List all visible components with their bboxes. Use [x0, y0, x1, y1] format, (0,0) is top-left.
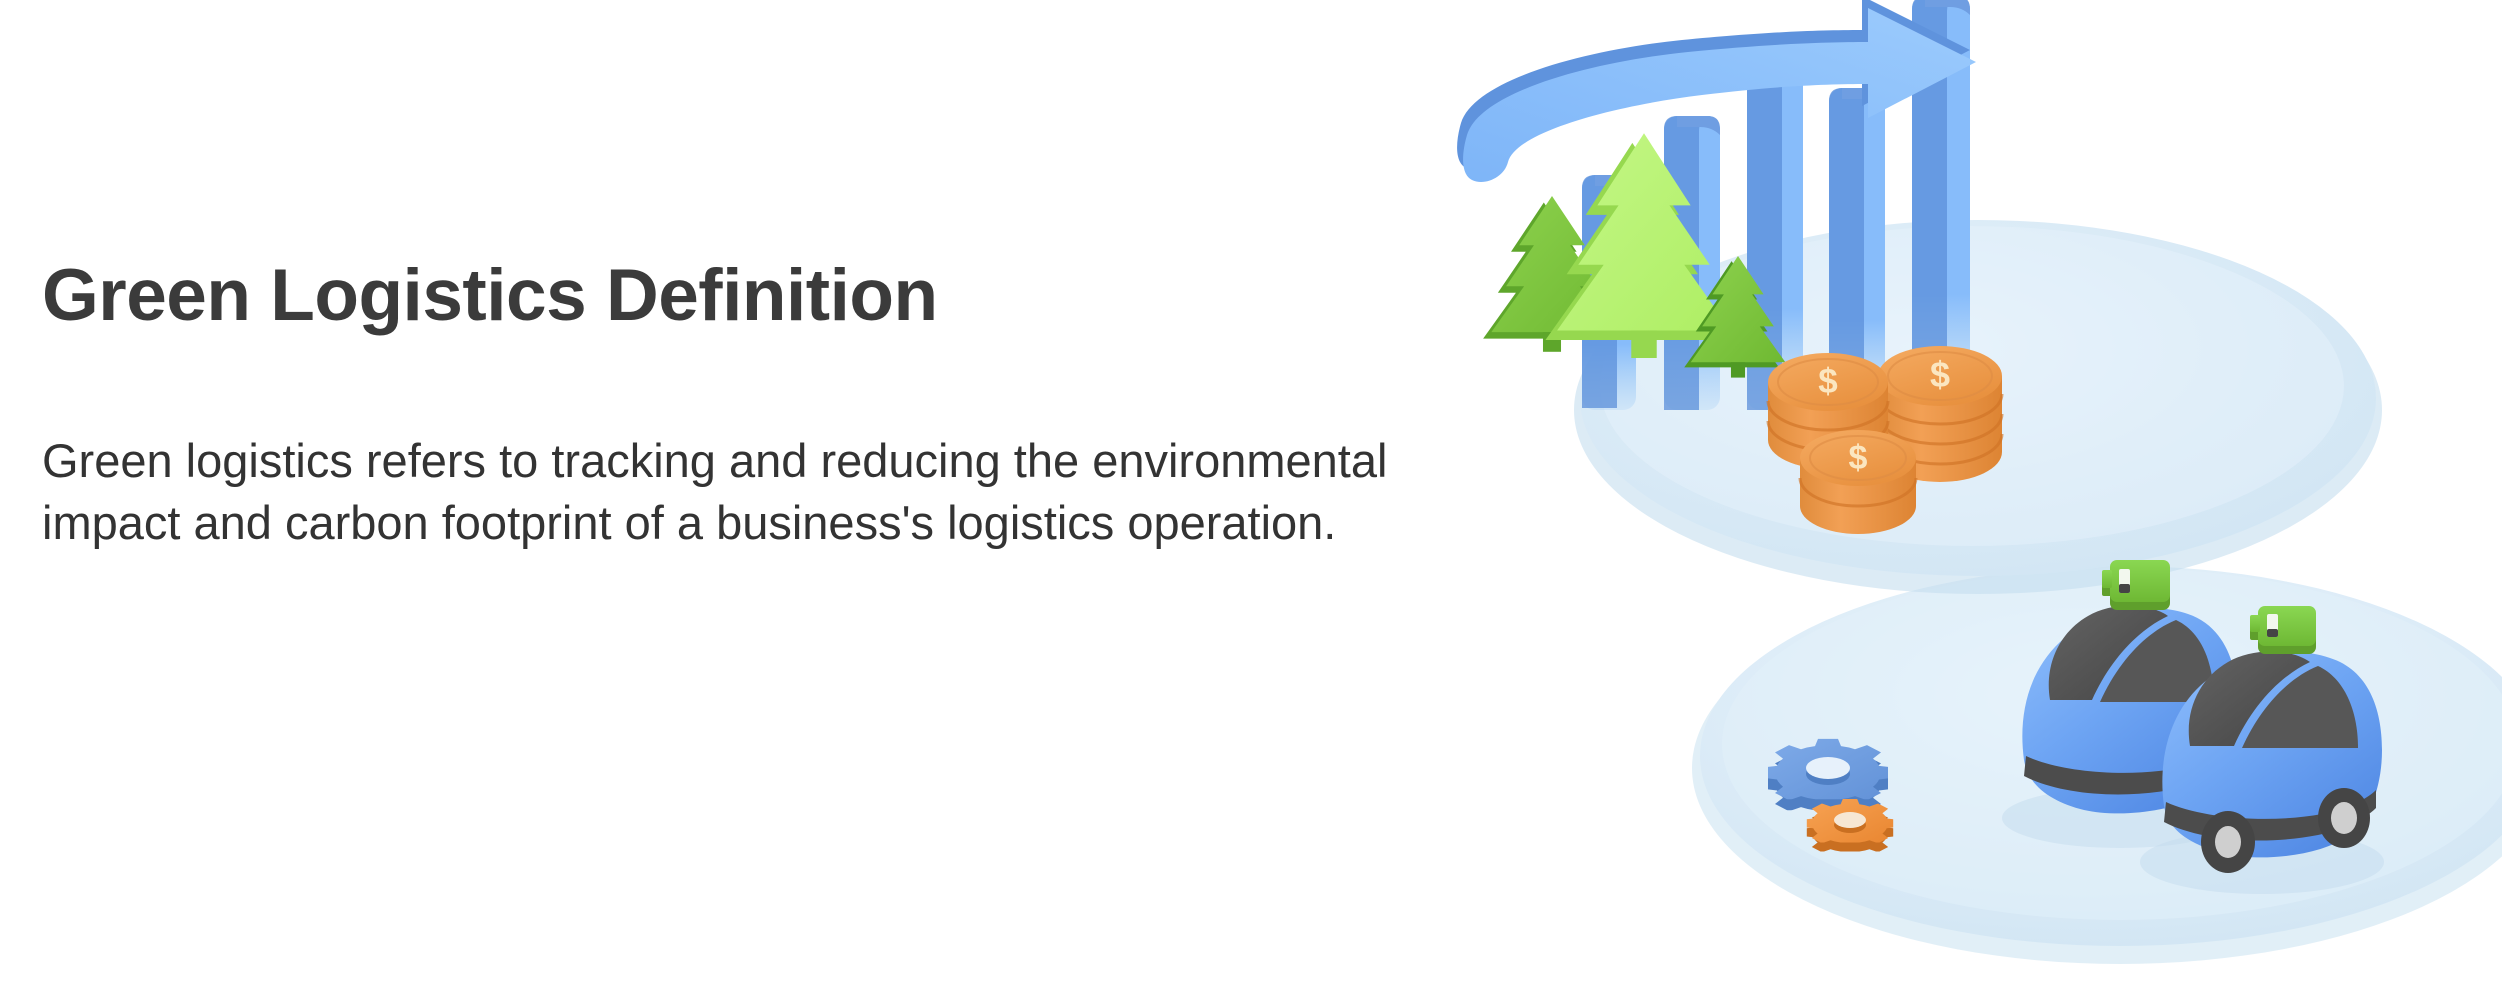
battery-icon-front — [2250, 606, 2316, 654]
green-logistics-illustration: $ $ — [1420, 0, 2502, 1000]
coin-stack-front: $ — [1800, 430, 1916, 534]
page-root: Green Logistics Definition Green logisti… — [0, 0, 2502, 1000]
text-column: Green Logistics Definition Green logisti… — [42, 0, 1442, 1000]
page-title: Green Logistics Definition — [42, 258, 938, 335]
coin-dollar-symbol: $ — [1930, 354, 1950, 395]
wheel — [2201, 811, 2255, 873]
gear-orange — [1803, 799, 1897, 857]
illustration-container: $ $ — [1420, 0, 2502, 1000]
definition-paragraph: Green logistics refers to tracking and r… — [42, 430, 1412, 554]
battery-icon-back — [2102, 560, 2170, 610]
wheel — [2318, 788, 2370, 848]
coin-dollar-symbol: $ — [1849, 439, 1868, 477]
coin-dollar-symbol: $ — [1818, 362, 1837, 401]
